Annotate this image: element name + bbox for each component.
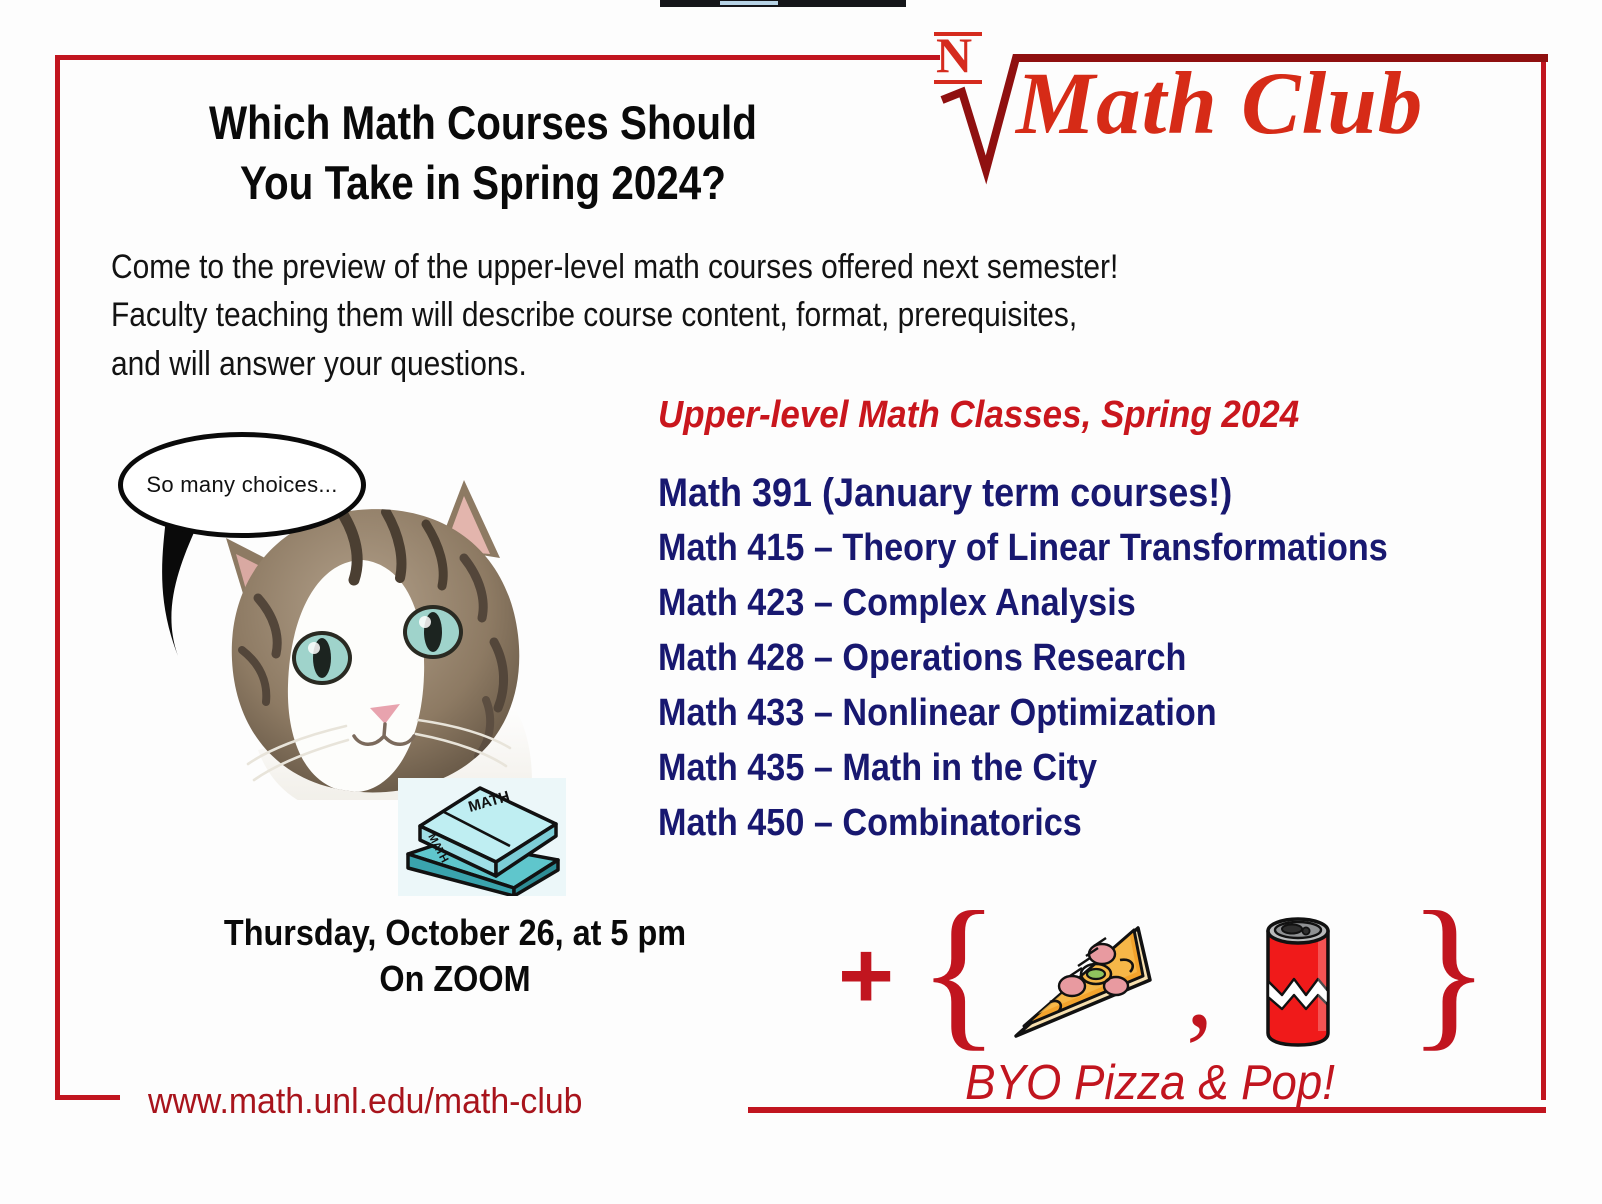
plus-sign: + (838, 928, 894, 1024)
frame-border-bottom-left-stub (55, 1095, 120, 1100)
course-item-415: Math 415 – Theory of Linear Transformati… (658, 521, 1432, 576)
course-item-423: Math 423 – Complex Analysis (658, 576, 1432, 631)
speech-bubble: So many choices... (118, 432, 366, 538)
intro-line-2: Faculty teaching them will describe cour… (111, 291, 1118, 339)
brace-open: { (918, 886, 1000, 1056)
course-item-428: Math 428 – Operations Research (658, 631, 1432, 686)
footer-url[interactable]: www.math.unl.edu/math-club (148, 1080, 582, 1122)
course-list: Math 391 (January term courses!) Math 41… (658, 466, 1518, 851)
intro-paragraph: Come to the preview of the upper-level m… (111, 243, 1118, 388)
byo-caption: BYO Pizza & Pop! (862, 1055, 1439, 1111)
course-item-435: Math 435 – Math in the City (658, 741, 1432, 796)
frame-border-left (55, 55, 60, 1100)
math-club-logo: N Math Club (930, 22, 1550, 177)
event-location: On ZOOM (145, 956, 766, 1002)
pizza-pop-equation: + { , } (838, 900, 1458, 1045)
top-screenshot-artifact-strip (660, 0, 906, 7)
course-item-450: Math 450 – Combinatorics (658, 796, 1432, 851)
page-title: Which Math Courses Should You Take in Sp… (156, 93, 810, 213)
brace-close: } (1408, 886, 1490, 1056)
course-item-433: Math 433 – Nonlinear Optimization (658, 686, 1432, 741)
pizza-slice-icon (998, 910, 1158, 1045)
speech-bubble-tail-icon (148, 516, 238, 666)
event-details: Thursday, October 26, at 5 pm On ZOOM (145, 910, 766, 1002)
event-datetime: Thursday, October 26, at 5 pm (145, 910, 766, 956)
frame-border-right (1541, 62, 1546, 1100)
poster-canvas: N Math Club Which Math Courses Should Yo… (0, 0, 1602, 1204)
soda-can-icon (1248, 905, 1348, 1050)
intro-line-1: Come to the preview of the upper-level m… (111, 243, 1118, 291)
speech-bubble-text: So many choices... (146, 472, 337, 498)
classes-heading: Upper-level Math Classes, Spring 2024 (658, 394, 1299, 437)
cat-illustration: So many choices... (108, 420, 578, 800)
course-item-391: Math 391 (January term courses!) (658, 466, 1432, 521)
math-books-clipart: MATH MATH (398, 778, 566, 896)
comma-separator: , (1186, 934, 1214, 1044)
logo-wordmark: Math Club (1016, 60, 1423, 149)
logo-n-letter: N (936, 30, 971, 80)
artifact-highlight (720, 1, 778, 5)
frame-border-top-left-segment (55, 55, 940, 60)
headline-line-1: Which Math Courses Should (156, 93, 810, 153)
books-icon: MATH MATH (398, 778, 566, 896)
headline-line-2: You Take in Spring 2024? (156, 153, 810, 213)
intro-line-3: and will answer your questions. (111, 340, 1118, 388)
